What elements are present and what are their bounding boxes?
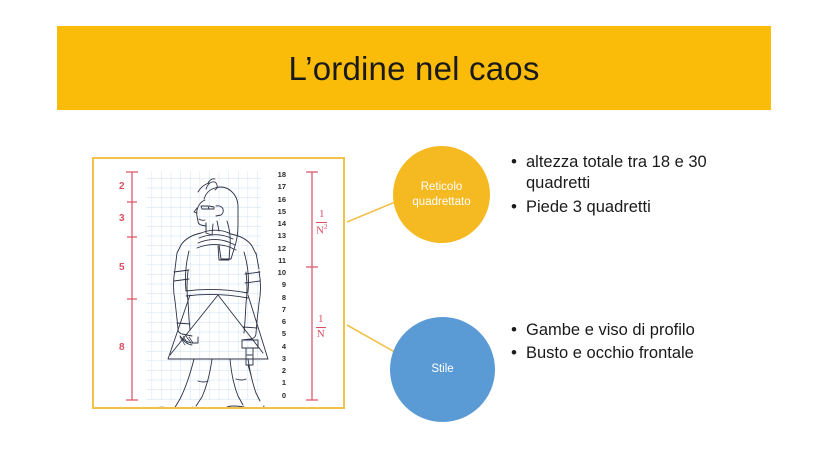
ruler-number: 12 [278, 245, 286, 253]
scale-label-3: 3 [119, 213, 125, 224]
bullet-list-stile: Gambe e viso di profilo Busto e occhio f… [509, 320, 709, 367]
ruler-number: 15 [278, 208, 286, 216]
page-title: L’ordine nel caos [288, 52, 539, 85]
ruler-number: 5 [282, 330, 286, 338]
connector-to-stile [347, 325, 400, 355]
ruler-number: 14 [278, 220, 286, 228]
list-item: altezza totale tra 18 e 30 quadretti [526, 152, 709, 195]
node-circle-label: Stile [431, 362, 453, 376]
right-measure-scale [294, 159, 334, 407]
fraction-one-over-n: 1 N [316, 314, 326, 340]
fraction-numerator: 1 [316, 314, 326, 328]
ruler-number: 11 [278, 257, 286, 265]
scale-label-5: 5 [119, 262, 125, 273]
ruler-number: 9 [282, 281, 286, 289]
ruler-number: 0 [282, 392, 286, 400]
figure-inner: 2 3 5 8 18 17 16 15 14 13 12 11 10 9 8 7… [94, 159, 343, 407]
node-circle-stile[interactable]: Stile [390, 317, 495, 422]
ruler-number: 16 [278, 196, 286, 204]
figure-frame: 2 3 5 8 18 17 16 15 14 13 12 11 10 9 8 7… [92, 157, 345, 409]
ruler-number: 2 [282, 367, 286, 375]
fraction-denominator: N [316, 328, 326, 341]
ruler-number: 4 [282, 343, 286, 351]
ruler-number-column: 18 17 16 15 14 13 12 11 10 9 8 7 6 5 4 3… [268, 171, 286, 399]
list-item: Gambe e viso di profilo [526, 320, 709, 341]
fraction-denominator: N2 [316, 223, 327, 237]
bullet-list-reticolo: altezza totale tra 18 e 30 quadretti Pie… [509, 152, 709, 220]
title-banner: L’ordine nel caos [57, 26, 771, 110]
left-measure-scale [102, 159, 162, 407]
ruler-number: 17 [278, 183, 286, 191]
scale-label-2: 2 [119, 181, 125, 192]
node-circle-label: Reticolo quadrettato [393, 180, 490, 209]
fraction-one-over-n-squared: 1 N2 [316, 209, 327, 237]
list-item: Busto e occhio frontale [526, 343, 709, 364]
fraction-numerator: 1 [316, 209, 327, 223]
scale-label-8: 8 [119, 342, 125, 353]
ruler-number: 7 [282, 306, 286, 314]
node-circle-reticolo[interactable]: Reticolo quadrettato [393, 146, 490, 243]
ruler-number: 18 [278, 171, 286, 179]
ruler-number: 3 [282, 355, 286, 363]
fraction-exponent: 2 [324, 223, 328, 231]
ruler-number: 8 [282, 294, 286, 302]
ruler-number: 10 [278, 269, 286, 277]
list-item: Piede 3 quadretti [526, 197, 709, 218]
ruler-number: 6 [282, 318, 286, 326]
ruler-number: 1 [282, 379, 286, 387]
ruler-number: 13 [278, 232, 286, 240]
